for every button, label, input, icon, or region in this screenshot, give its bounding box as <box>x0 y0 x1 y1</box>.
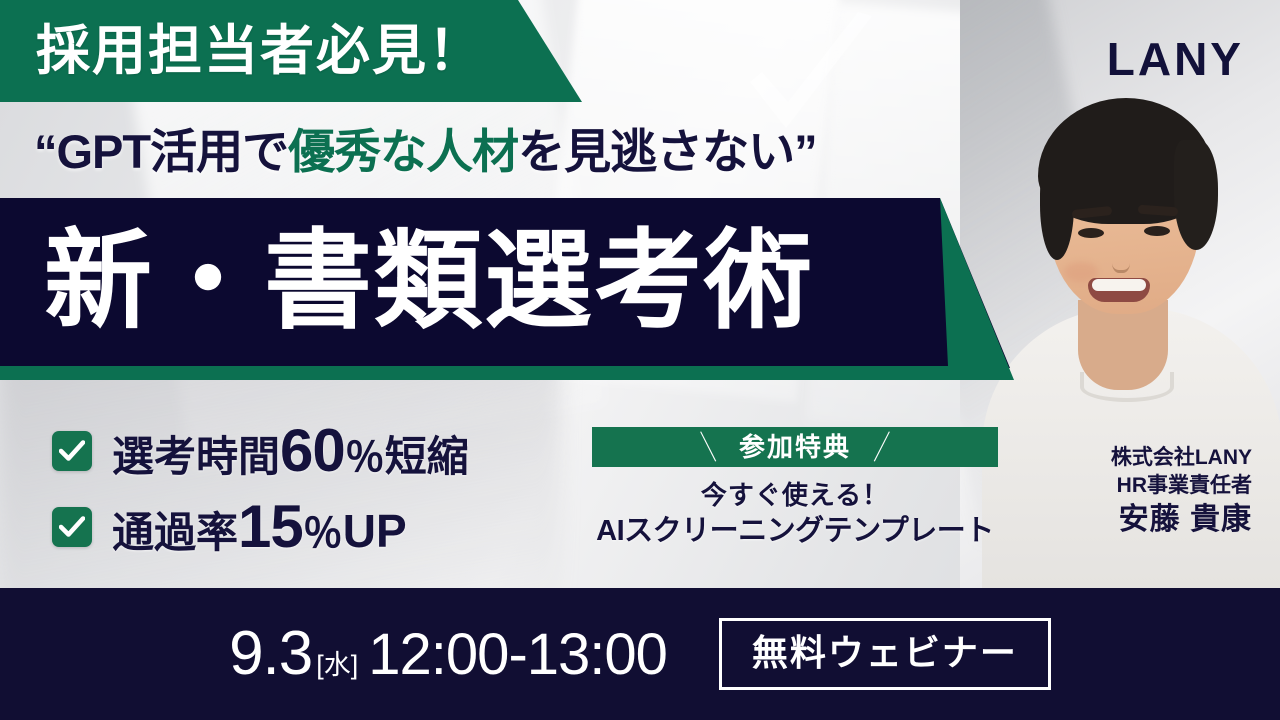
photo-hair-left <box>1040 150 1074 260</box>
list-item-label: 通過率 15 ％ UP <box>112 497 407 557</box>
speaker-role: HR事業責任者 <box>1111 472 1252 500</box>
event-time: 12:00-13:00 <box>368 626 667 684</box>
bullet-1-prefix: 選考時間 <box>112 436 280 478</box>
slash-right-icon: ／ <box>866 430 901 463</box>
lany-logo: LANY <box>1107 32 1244 86</box>
footer-inner: 9.3 [水] 12:00-13:00 無料ウェビナー <box>0 588 1280 720</box>
bullet-1-suffix: 短縮 <box>385 436 469 478</box>
bullet-1-percent: ％ <box>345 438 385 478</box>
list-item: 選考時間 60 ％ 短縮 <box>52 420 469 482</box>
footer-bar: 9.3 [水] 12:00-13:00 無料ウェビナー <box>0 588 1280 720</box>
check-icon <box>52 507 92 547</box>
bullet-2-suffix: UP <box>343 508 407 554</box>
list-item-label: 選考時間 60 ％ 短縮 <box>112 421 469 481</box>
bullet-1-number: 60 <box>280 421 345 481</box>
bullet-2-prefix: 通過率 <box>112 512 238 554</box>
photo-mouth <box>1088 278 1150 302</box>
list-item: 通過率 15 ％ UP <box>52 496 469 558</box>
photo-eye-left <box>1078 228 1104 238</box>
subtitle-part-2: を見逃さない <box>518 125 794 178</box>
photo-hair-right <box>1174 140 1218 250</box>
event-day-of-week: [水] <box>316 652 358 679</box>
subtitle-highlight: 優秀な人材 <box>288 125 518 178</box>
benefit-line-1: 今すぐ使える！ <box>592 478 998 512</box>
free-webinar-badge: 無料ウェビナー <box>719 618 1051 690</box>
participation-benefit-bar: ／ 参加特典 ／ <box>592 427 998 467</box>
webinar-banner: 採用担当者必見！ LANY “GPT活用で優秀な人材を見逃さない” 新・書類選考… <box>0 0 1280 720</box>
attention-ribbon-label: 採用担当者必見！ <box>36 18 484 84</box>
benefit-line-2: AIスクリーニングテンプレート <box>592 512 998 550</box>
check-icon <box>52 431 92 471</box>
participation-benefit-inner: ／ 参加特典 ／ <box>693 434 897 460</box>
benefit-bullet-list: 選考時間 60 ％ 短縮 通過率 15 ％ UP <box>52 420 469 572</box>
subtitle-close-quote: ” <box>794 125 817 178</box>
page-title: 新・書類選考術 <box>44 205 814 357</box>
subtitle-open-quote: “ <box>34 125 57 178</box>
photo-nose <box>1112 248 1130 273</box>
bullet-2-number: 15 <box>238 497 303 557</box>
speaker-company: 株式会社LANY <box>1111 444 1252 472</box>
speaker-caption: 株式会社LANY HR事業責任者 安藤 貴康 <box>1111 444 1252 540</box>
photo-teeth <box>1092 279 1146 291</box>
subtitle-quote: “GPT活用で優秀な人材を見逃さない” <box>34 122 817 182</box>
event-date: 9.3 <box>229 623 312 685</box>
event-datetime: 9.3 [水] 12:00-13:00 <box>229 623 667 685</box>
bullet-2-percent: ％ <box>303 514 343 554</box>
participation-benefit-label: 参加特典 <box>739 434 851 460</box>
slash-left-icon: ／ <box>690 430 725 463</box>
photo-collar <box>1080 372 1174 402</box>
speaker-name: 安藤 貴康 <box>1111 500 1252 540</box>
subtitle-part-1: GPT活用で <box>57 125 289 178</box>
photo-eye-right <box>1144 226 1170 236</box>
benefit-description: 今すぐ使える！ AIスクリーニングテンプレート <box>592 478 998 550</box>
